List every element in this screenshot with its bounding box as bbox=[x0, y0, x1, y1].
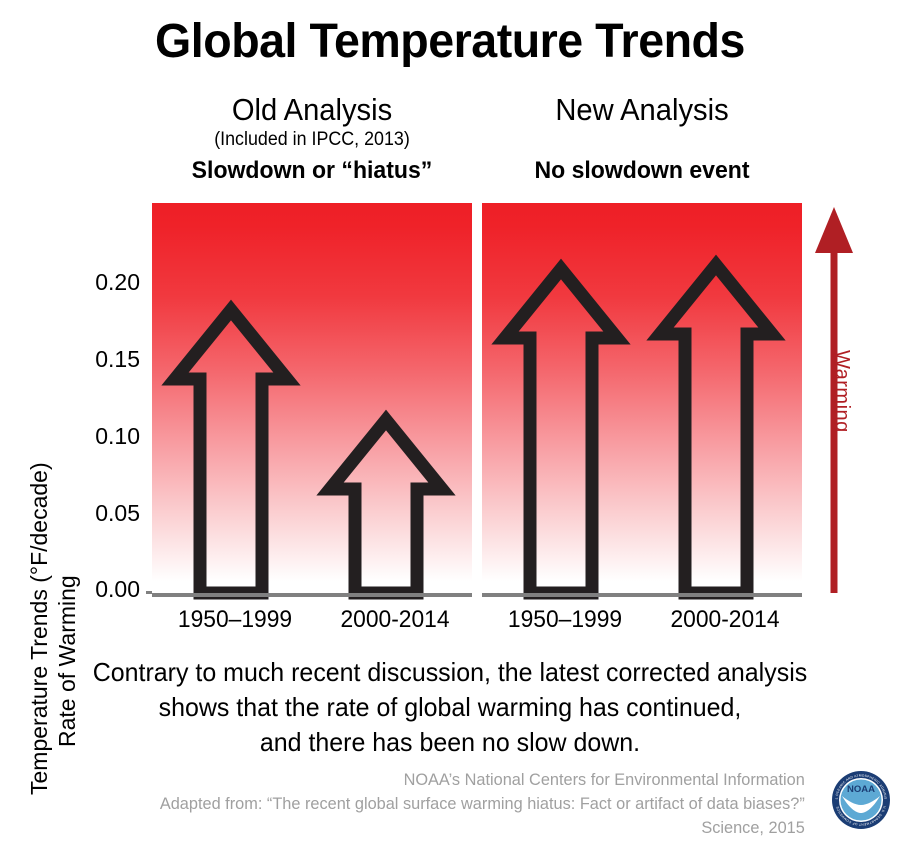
caption-line-3: and there has been no slow down. bbox=[18, 725, 882, 760]
y-tick-label-1: 0.05 bbox=[78, 502, 140, 525]
data-arrow-new-1950-1999 bbox=[505, 269, 617, 593]
baseline-new bbox=[482, 593, 802, 597]
plot-panel-new bbox=[482, 203, 802, 593]
warming-label: Warming bbox=[830, 350, 853, 433]
infographic-root: Global Temperature Trends Old Analysis (… bbox=[0, 0, 900, 846]
panel-header-new: New Analysis No slowdown event bbox=[482, 92, 802, 185]
caption-block: Contrary to much recent discussion, the … bbox=[18, 655, 882, 760]
footer-credit: NOAA’s National Centers for Environmenta… bbox=[75, 768, 805, 840]
y-tick-label-3: 0.15 bbox=[78, 348, 140, 371]
panel-old-subheading: (Included in IPCC, 2013) bbox=[162, 128, 463, 152]
panel-new-verdict: No slowdown event bbox=[488, 156, 795, 185]
page-title: Global Temperature Trends bbox=[14, 14, 887, 70]
panel-new-subheading bbox=[492, 128, 793, 152]
caption-line-1: Contrary to much recent discussion, the … bbox=[18, 655, 882, 690]
panel-old-heading: Old Analysis bbox=[162, 92, 463, 128]
footer-line-2: Adapted from: “The recent global surface… bbox=[75, 792, 805, 816]
y-axis-title-group: Temperature Trends (°F/decade) Rate of W… bbox=[0, 195, 70, 615]
x-tick-new-1950-1999: 1950–1999 bbox=[486, 606, 644, 634]
footer-line-1: NOAA’s National Centers for Environmenta… bbox=[75, 768, 805, 792]
y-tick-label-4: 0.20 bbox=[78, 271, 140, 294]
caption-line-2: shows that the rate of global warming ha… bbox=[18, 690, 882, 725]
arrow-group-old bbox=[152, 203, 472, 593]
noaa-seal-logo: NOAA NATIONAL OCEANIC AND ATMOSPHERIC AD… bbox=[831, 770, 891, 830]
x-tick-old-1950-1999: 1950–1999 bbox=[156, 606, 314, 634]
y-tick-label-0: 0.00 bbox=[78, 578, 140, 601]
panel-header-old: Old Analysis (Included in IPCC, 2013) Sl… bbox=[152, 92, 472, 185]
plot-panel-old bbox=[152, 203, 472, 593]
data-arrow-old-2000-2014 bbox=[330, 420, 442, 593]
x-tick-old-2000-2014: 2000-2014 bbox=[316, 606, 474, 634]
baseline-old bbox=[152, 593, 472, 597]
data-arrow-old-1950-1999 bbox=[175, 310, 287, 593]
panel-new-heading: New Analysis bbox=[492, 92, 793, 128]
data-arrow-new-2000-2014 bbox=[660, 265, 772, 593]
noaa-wordmark: NOAA bbox=[847, 784, 875, 795]
x-tick-new-2000-2014: 2000-2014 bbox=[646, 606, 804, 634]
arrow-group-new bbox=[482, 203, 802, 593]
panel-old-verdict: Slowdown or “hiatus” bbox=[158, 156, 465, 185]
footer-line-3: Science, 2015 bbox=[75, 816, 805, 840]
y-tick-label-2: 0.10 bbox=[78, 425, 140, 448]
